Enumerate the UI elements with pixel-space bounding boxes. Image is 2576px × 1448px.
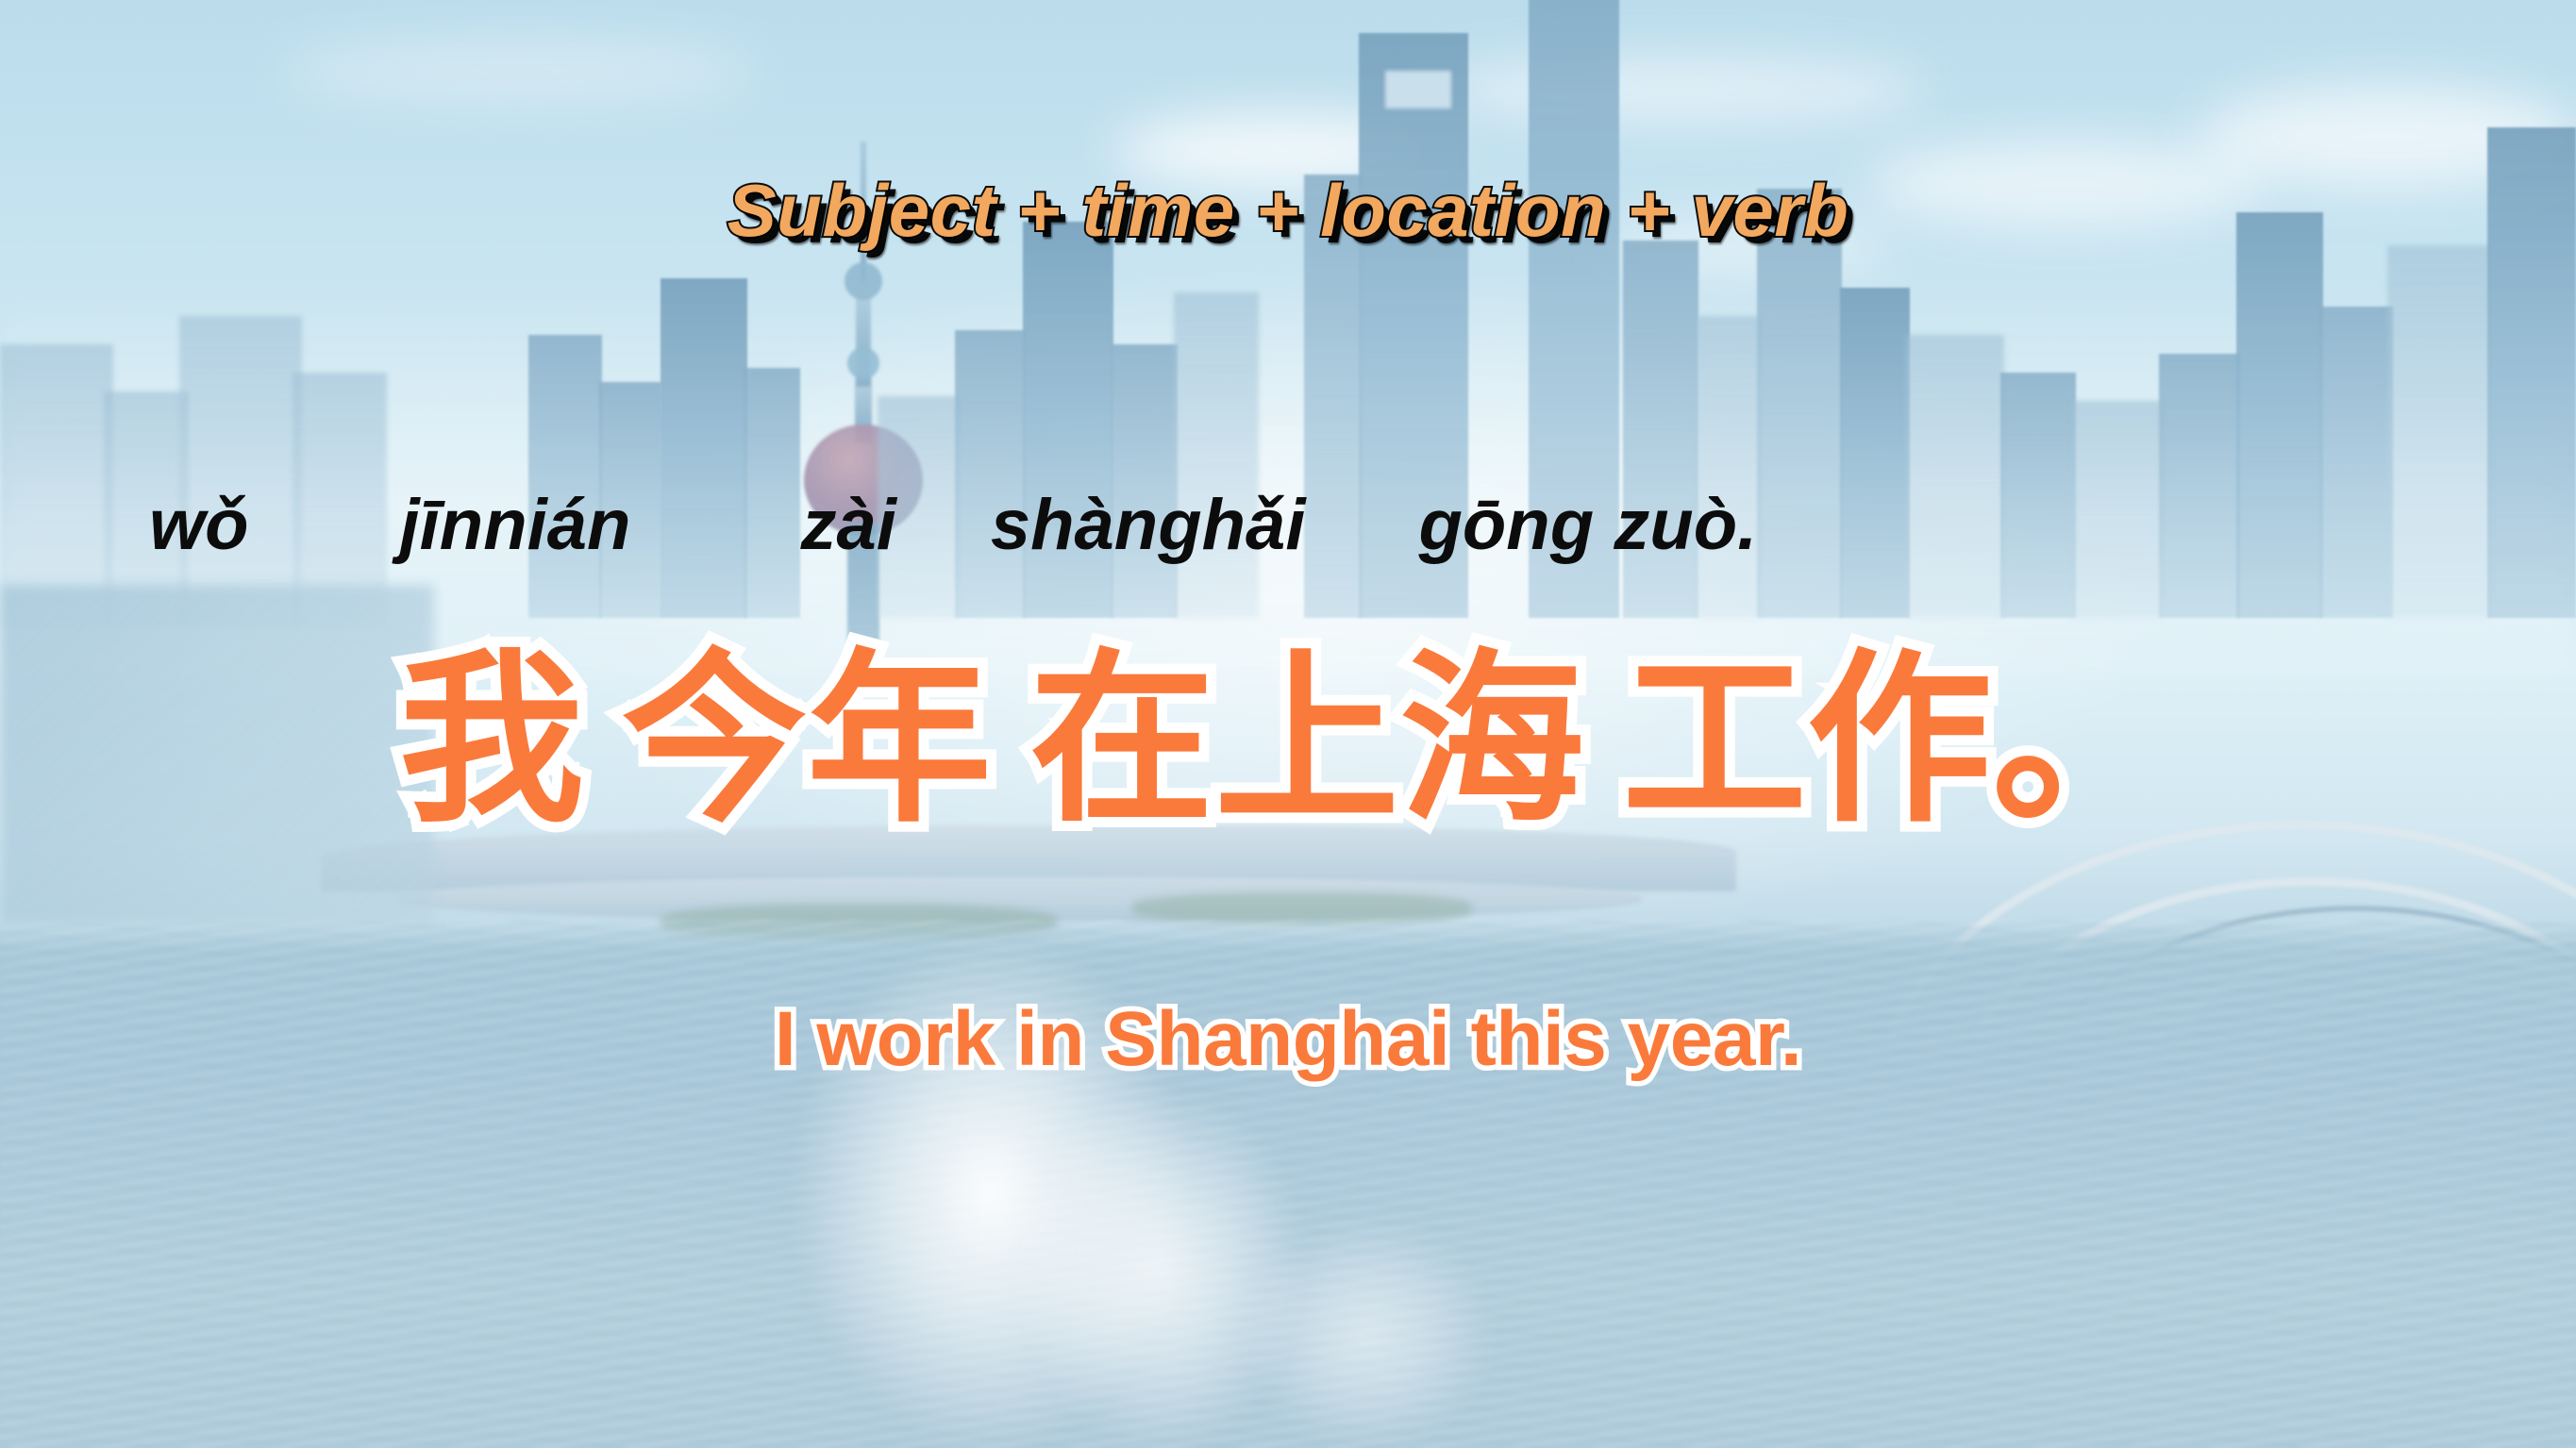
text-overlay: Subject + time + location + verb wǒ jīnn…: [0, 0, 2576, 1448]
pinyin-word-gongzuo: gōng zuò.: [1418, 484, 1757, 566]
hanzi-row: 我 今年 在上海 工作。: [0, 613, 2576, 868]
hanzi-word-wo: 我: [399, 648, 584, 833]
hanzi-word-jinnian: 今年: [622, 648, 992, 833]
pinyin-word-jinnian: jīnnián: [400, 484, 631, 566]
pinyin-word-shanghai: shànghǎi: [991, 484, 1306, 566]
pinyin-word-zai: zài: [800, 484, 895, 566]
english-translation: I work in Shanghai this year.: [0, 995, 2576, 1084]
grammar-pattern-title: Subject + time + location + verb: [0, 168, 2576, 254]
pinyin-row: wǒ jīnnián zài shànghǎi gōng zuò.: [142, 453, 2434, 566]
slide-canvas: Subject + time + location + verb wǒ jīnn…: [0, 0, 2576, 1448]
pinyin-word-wo: wǒ: [149, 484, 249, 566]
hanzi-word-gongzuo: 工作。: [1622, 648, 2177, 833]
hanzi-word-zaishanghai: 在上海: [1029, 648, 1584, 833]
